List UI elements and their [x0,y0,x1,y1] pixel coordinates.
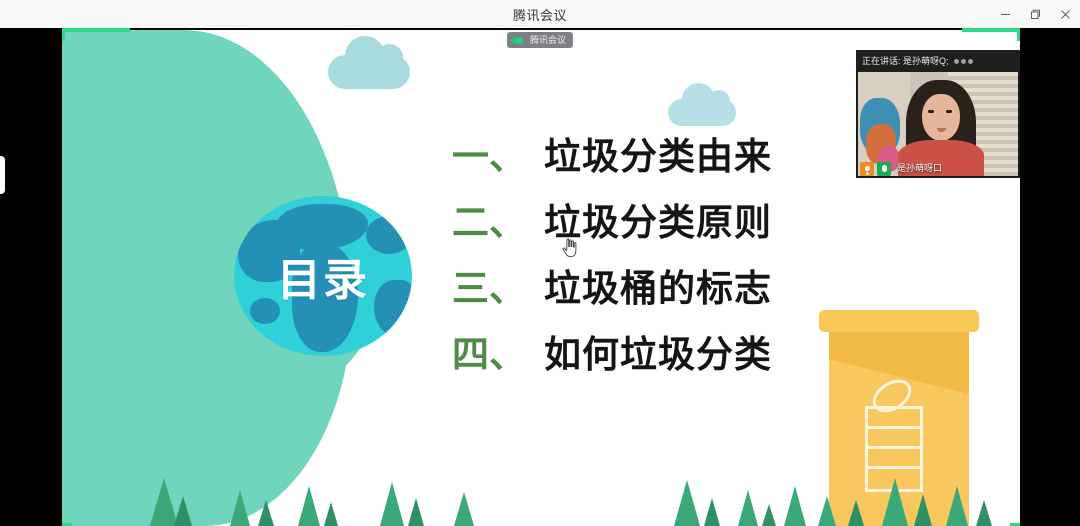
participant-name-label: 是孙萌呀口 [894,163,945,174]
minimize-button[interactable] [990,0,1020,28]
close-icon [1060,9,1071,20]
toc-item-3[interactable]: 三、 垃圾桶的标志 [452,270,872,307]
toc-item-label: 如何垃圾分类 [544,336,772,373]
share-border-top-left [62,28,130,32]
microphone-icon[interactable] [877,162,891,176]
grass-decoration [62,456,1020,526]
participant-video-tile[interactable]: 正在讲话: 是孙萌呀Q; 是孙萌呀口 [856,50,1020,178]
share-border-right [1017,28,1020,41]
participant-eye-right [946,110,952,113]
cloud-icon-left [328,55,410,89]
share-border-top-right [962,28,1020,32]
window-controls [990,0,1080,28]
toc-item-1[interactable]: 一、 垃圾分类由来 [452,138,872,175]
participant-eye-left [928,110,934,113]
video-tile-footer: 是孙萌呀口 [858,161,945,176]
toc-item-number: 四、 [452,336,526,373]
tencent-meeting-logo-icon [511,36,526,45]
toc-item-label: 垃圾分类原则 [544,204,772,241]
person-avatar-icon [860,162,874,176]
shared-screen-stage: 目录 一、 垃圾分类由来 二、 垃圾分类原则 三、 垃圾桶的标志 四、 如何垃圾… [0,28,1080,526]
globe-icon: 目录 [234,196,412,356]
restore-button[interactable] [1020,0,1050,28]
toc-item-label: 垃圾桶的标志 [544,270,772,307]
share-border-left [62,28,65,41]
speaking-status-label: 正在讲话: 是孙萌呀Q; [862,57,949,66]
restore-icon [1030,9,1041,20]
toc-item-number: 三、 [452,270,526,307]
table-of-contents: 一、 垃圾分类由来 二、 垃圾分类原则 三、 垃圾桶的标志 四、 如何垃圾分类 [452,138,872,373]
toc-item-number: 一、 [452,138,526,175]
window-title: 腾讯会议 [513,5,567,24]
close-button[interactable] [1050,0,1080,28]
toc-item-2[interactable]: 二、 垃圾分类原则 [452,204,872,241]
toc-item-4[interactable]: 四、 如何垃圾分类 [452,336,872,373]
window-title-bar: 腾讯会议 [0,0,1080,28]
app-badge[interactable]: 腾讯会议 [507,32,573,48]
sidebar-collapse-handle[interactable] [0,156,5,194]
toc-item-number: 二、 [452,204,526,241]
speaking-indicator-icon [954,59,973,64]
slide-title-contents: 目录 [234,196,412,356]
toc-item-label: 垃圾分类由来 [544,138,772,175]
app-badge-label: 腾讯会议 [530,36,566,45]
mouse-cursor-pointer-icon [562,238,578,258]
minimize-icon [1000,9,1011,20]
participant-face [922,94,960,141]
cloud-icon-right [668,99,736,126]
speaking-status-bar: 正在讲话: 是孙萌呀Q; [856,50,1020,72]
